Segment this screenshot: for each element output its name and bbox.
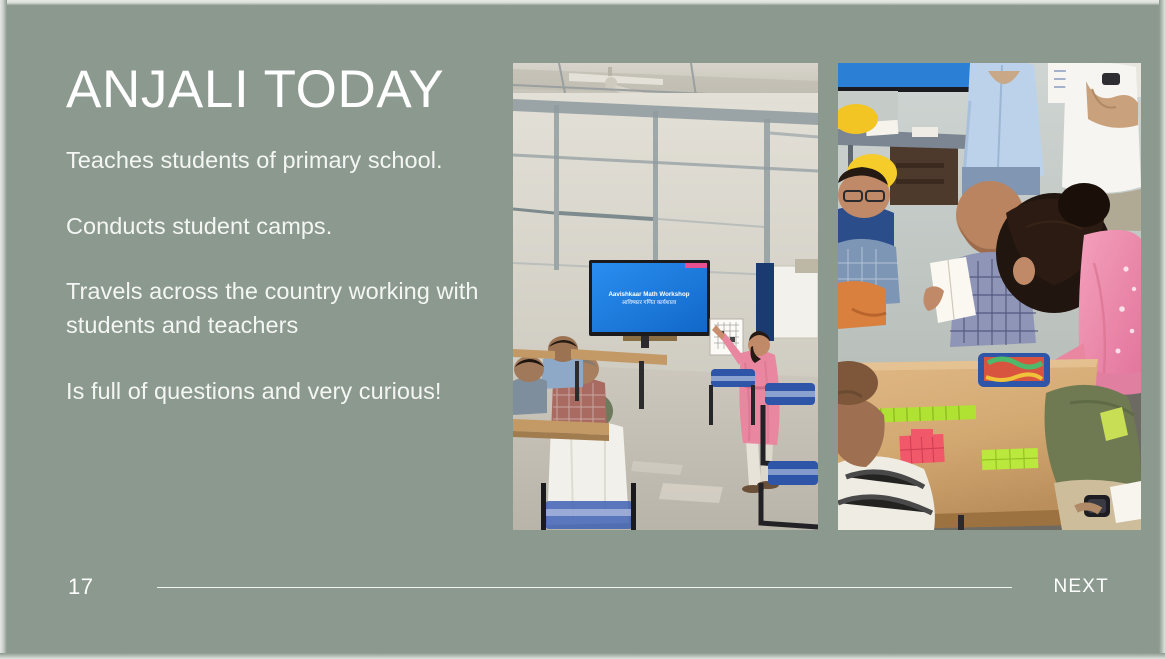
- page-number: 17: [68, 571, 93, 603]
- list-item: Teaches students of primary school.: [66, 144, 496, 178]
- slide-footer: 17 NEXT: [0, 571, 1165, 605]
- green-cap-participant: [1045, 385, 1142, 530]
- svg-text:आविष्कार गणित कार्यशाला: आविष्कार गणित कार्यशाला: [622, 298, 677, 306]
- slide-body-list: Teaches students of primary school. Cond…: [66, 144, 496, 408]
- svg-text:Aavishkaar Math Workshop: Aavishkaar Math Workshop: [608, 291, 689, 298]
- slide-bottom-edge: [0, 653, 1165, 659]
- list-item: Conducts student camps.: [66, 210, 496, 244]
- presentation-slide: ANJALI TODAY Teaches students of primary…: [0, 0, 1165, 659]
- slide-text-column: ANJALI TODAY Teaches students of primary…: [66, 62, 496, 408]
- slide-top-edge: [0, 0, 1165, 5]
- slide-left-edge: [0, 0, 7, 659]
- footer-divider: [157, 587, 1012, 588]
- standing-person-blue: [962, 63, 1044, 195]
- slide-right-edge: [1159, 0, 1165, 659]
- next-button[interactable]: NEXT: [1054, 571, 1109, 603]
- classroom-photo-graphic: Aavishkaar Math Workshop आविष्कार गणित क…: [513, 63, 818, 530]
- colour-bag: [978, 353, 1050, 387]
- workshop-table-photo: [838, 63, 1141, 530]
- list-item: Travels across the country working with …: [66, 275, 496, 342]
- page-title: ANJALI TODAY: [66, 62, 496, 118]
- workshop-photo-graphic: [838, 63, 1141, 530]
- classroom-presentation-photo: Aavishkaar Math Workshop आविष्कार गणित क…: [513, 63, 818, 530]
- list-item: Is full of questions and very curious!: [66, 375, 496, 409]
- green-block-cluster: [982, 448, 1039, 470]
